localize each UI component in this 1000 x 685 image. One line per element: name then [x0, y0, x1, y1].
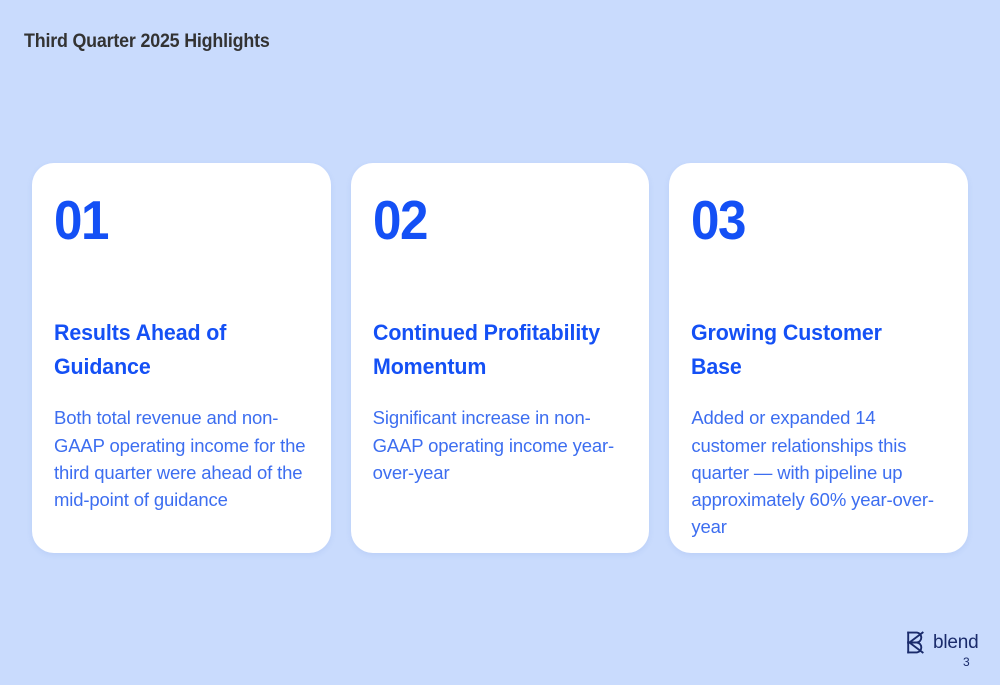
card-heading: Growing Customer Base — [691, 316, 933, 384]
highlight-cards-row: 01 Results Ahead of Guidance Both total … — [32, 163, 968, 553]
highlight-card: 01 Results Ahead of Guidance Both total … — [32, 163, 331, 553]
card-heading: Continued Profitability Momentum — [373, 316, 615, 384]
page-number: 3 — [963, 655, 970, 669]
logo-wordmark: blend — [933, 633, 979, 652]
card-body-text: Significant increase in non-GAAP operati… — [373, 404, 628, 486]
card-number: 03 — [691, 193, 928, 248]
slide-canvas: Third Quarter 2025 Highlights 01 Results… — [0, 0, 1000, 685]
card-body-text: Added or expanded 14 customer relationsh… — [691, 404, 939, 540]
card-number: 01 — [54, 193, 291, 248]
card-heading: Results Ahead of Guidance — [54, 316, 296, 384]
brand-logo: blend — [905, 631, 979, 654]
card-number: 02 — [373, 193, 610, 248]
highlight-card: 02 Continued Profitability Momentum Sign… — [351, 163, 650, 553]
highlight-card: 03 Growing Customer Base Added or expand… — [669, 163, 968, 553]
blend-b-logo-icon — [905, 631, 926, 654]
page-title: Third Quarter 2025 Highlights — [24, 31, 270, 53]
card-body-text: Both total revenue and non-GAAP operatin… — [54, 404, 309, 513]
